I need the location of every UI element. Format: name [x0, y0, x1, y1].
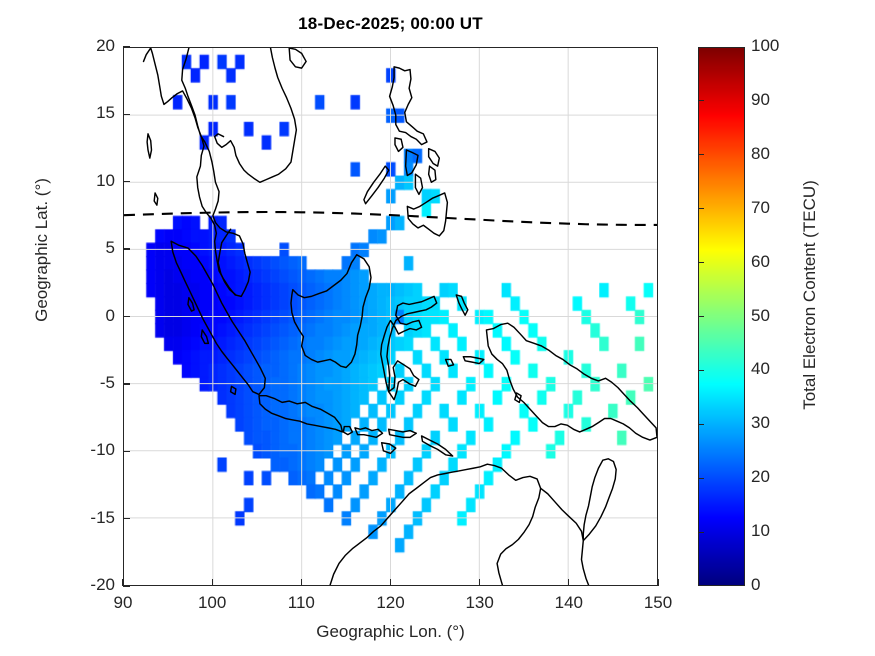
x-tick-mark	[657, 579, 658, 586]
colorbar-tick-label: 50	[751, 306, 797, 326]
colorbar-tick-mark	[698, 208, 704, 209]
y-tick-mark	[123, 383, 130, 384]
colorbar-tick-mark	[698, 262, 704, 263]
x-tick-mark	[390, 579, 391, 586]
y-tick-mark	[123, 585, 130, 586]
y-tick-label: -15	[55, 508, 115, 528]
y-tick-mark	[123, 181, 130, 182]
x-tick-label: 150	[623, 593, 693, 613]
y-tick-mark	[123, 114, 130, 115]
x-tick-mark	[301, 579, 302, 586]
y-tick-label: -10	[55, 440, 115, 460]
colorbar-tick-label: 80	[751, 144, 797, 164]
y-tick-label: 0	[55, 306, 115, 326]
x-axis-title: Geographic Lon. (°)	[123, 622, 658, 642]
colorbar-tick-mark	[698, 370, 704, 371]
figure-canvas: 18-Dec-2025; 00:00 UT 901001101201301401…	[0, 0, 875, 656]
colorbar-tick-mark	[698, 424, 704, 425]
colorbar-tick-label: 20	[751, 467, 797, 487]
colorbar-tick-label: 0	[751, 575, 797, 595]
colorbar-tick-label: 40	[751, 359, 797, 379]
x-tick-label: 90	[88, 593, 158, 613]
y-tick-mark	[123, 518, 130, 519]
colorbar-tick-mark	[698, 100, 704, 101]
colorbar[interactable]	[698, 47, 745, 586]
colorbar-tick-mark	[698, 532, 704, 533]
x-tick-mark	[212, 579, 213, 586]
y-tick-label: 10	[55, 171, 115, 191]
y-tick-mark	[123, 248, 130, 249]
x-tick-label: 110	[266, 593, 336, 613]
x-tick-label: 120	[356, 593, 426, 613]
colorbar-tick-label: 10	[751, 521, 797, 541]
colorbar-tick-label: 60	[751, 252, 797, 272]
page-title: 18-Dec-2025; 00:00 UT	[123, 14, 658, 34]
geomagnetic-equator-icon	[124, 48, 657, 585]
x-tick-label: 130	[445, 593, 515, 613]
colorbar-tick-mark	[698, 316, 704, 317]
y-tick-label: -20	[55, 575, 115, 595]
y-tick-mark	[123, 316, 130, 317]
y-tick-label: 5	[55, 238, 115, 258]
colorbar-title: Total Electron Content (TECU)	[800, 45, 820, 545]
colorbar-tick-mark	[698, 154, 704, 155]
colorbar-tick-label: 30	[751, 413, 797, 433]
y-tick-mark	[123, 451, 130, 452]
y-tick-mark	[123, 46, 130, 47]
y-tick-label: -5	[55, 373, 115, 393]
colorbar-gradient	[699, 48, 744, 585]
x-tick-mark	[479, 579, 480, 586]
colorbar-tick-label: 70	[751, 198, 797, 218]
y-tick-label: 15	[55, 103, 115, 123]
x-tick-mark	[568, 579, 569, 586]
y-tick-label: 20	[55, 36, 115, 56]
x-tick-label: 140	[534, 593, 604, 613]
x-tick-label: 100	[177, 593, 247, 613]
map-plot-area[interactable]	[123, 47, 658, 586]
colorbar-tick-mark	[698, 478, 704, 479]
colorbar-tick-label: 100	[751, 36, 797, 56]
y-axis-title: Geographic Lat. (°)	[32, 70, 52, 430]
colorbar-tick-label: 90	[751, 90, 797, 110]
